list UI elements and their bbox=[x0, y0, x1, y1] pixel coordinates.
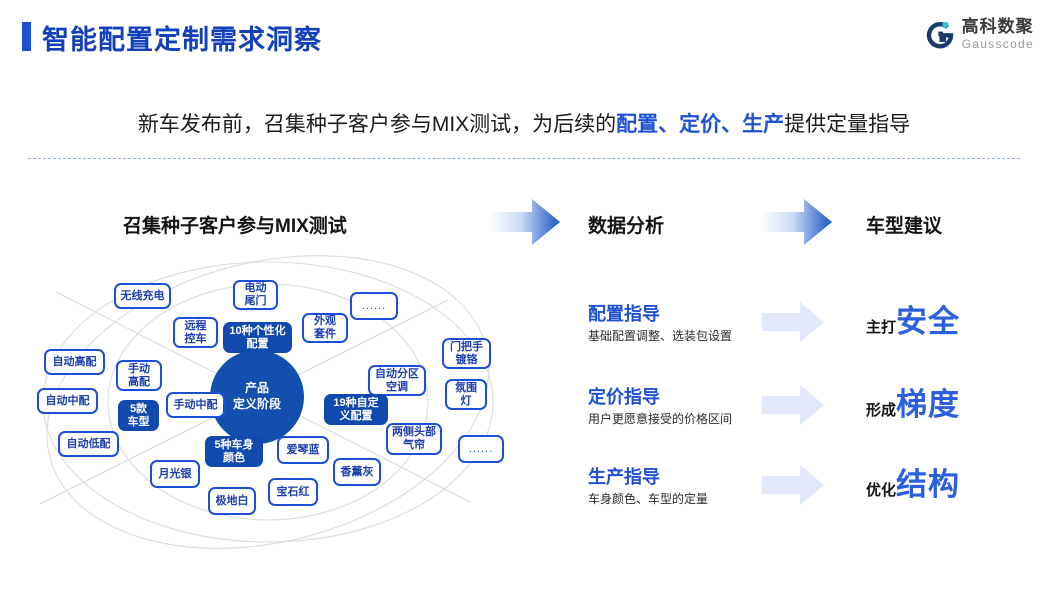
recommendation-prefix: 优化 bbox=[866, 479, 896, 500]
row-description: 用户更愿意接受的价格区间 bbox=[588, 410, 732, 427]
mindmap-node: 无线充电 bbox=[114, 283, 171, 309]
column-header-analysis: 数据分析 bbox=[588, 211, 664, 238]
center-node-line-2: 定义阶段 bbox=[233, 397, 281, 413]
mindmap-node: ...... bbox=[350, 292, 398, 320]
title-accent-bar bbox=[22, 22, 31, 51]
row-recommendation: 形成 梯度 bbox=[866, 379, 960, 424]
recommendation-keyword: 安全 bbox=[896, 296, 960, 341]
mindmap-node: 月光银 bbox=[150, 460, 200, 488]
logo-name-en: Gausscode bbox=[962, 38, 1034, 50]
mindmap-node: 5种车身颜色 bbox=[205, 436, 263, 467]
mindmap-node: 电动尾门 bbox=[233, 280, 278, 310]
flow-arrow-1-icon bbox=[488, 199, 560, 245]
recommendation-prefix: 形成 bbox=[866, 399, 896, 420]
mindmap-node: 爱琴蓝 bbox=[277, 436, 329, 464]
mindmap-node: 自动低配 bbox=[58, 431, 119, 457]
recommendation-prefix: 主打 bbox=[866, 316, 896, 337]
column-header-recommendation: 车型建议 bbox=[866, 211, 942, 238]
recommendation-keyword: 梯度 bbox=[896, 379, 960, 424]
mindmap-node: 外观套件 bbox=[302, 313, 348, 343]
mindmap-node: 5款车型 bbox=[118, 400, 159, 431]
subtitle-part-2: 提供定量指导 bbox=[784, 113, 910, 136]
row-arrow-2-icon bbox=[762, 385, 824, 425]
logo-text: 高科数聚 Gausscode bbox=[962, 18, 1034, 50]
row-recommendation: 主打 安全 bbox=[866, 296, 960, 341]
gausscode-g-logo-icon bbox=[925, 19, 955, 49]
row-description: 基础配置调整、选装包设置 bbox=[588, 327, 732, 344]
mindmap-node: 19种自定义配置 bbox=[324, 394, 388, 425]
page-title: 智能配置定制需求洞察 bbox=[42, 18, 322, 57]
subtitle-part-1: 新车发布前，召集种子客户参与MIX测试，为后续的 bbox=[138, 113, 616, 136]
column-header-collect: 召集种子客户参与MIX测试 bbox=[123, 211, 347, 238]
mindmap-node: ...... bbox=[458, 435, 504, 463]
row-arrow-1-icon bbox=[762, 302, 824, 342]
flow-arrow-2-icon bbox=[760, 199, 832, 245]
center-node-line-1: 产品 bbox=[245, 381, 269, 397]
recommendation-keyword: 结构 bbox=[896, 459, 960, 504]
mindmap-node: 手动高配 bbox=[116, 360, 162, 391]
mindmap-node: 自动分区空调 bbox=[368, 365, 426, 396]
subtitle: 新车发布前，召集种子客户参与MIX测试，为后续的配置、定价、生产提供定量指导 bbox=[0, 108, 1048, 138]
brand-logo: 高科数聚 Gausscode bbox=[925, 18, 1034, 50]
row-title: 生产指导 bbox=[588, 463, 660, 489]
mindmap-node: 宝石红 bbox=[268, 478, 318, 506]
mindmap-node: 两侧头部气帘 bbox=[386, 423, 442, 455]
logo-name-cn: 高科数聚 bbox=[962, 18, 1034, 35]
mindmap-node: 门把手镀铬 bbox=[442, 338, 491, 369]
row-recommendation: 优化 结构 bbox=[866, 459, 960, 504]
section-divider bbox=[28, 158, 1020, 159]
mindmap-node: 手动中配 bbox=[166, 392, 225, 418]
analysis-row-pricing: 定价指导 用户更愿意接受的价格区间 形成 梯度 bbox=[588, 383, 1028, 449]
mindmap-node: 极地白 bbox=[208, 487, 256, 515]
row-title: 配置指导 bbox=[588, 300, 660, 326]
subtitle-highlight: 配置、定价、生产 bbox=[616, 113, 784, 136]
row-arrow-3-icon bbox=[762, 465, 824, 505]
row-title: 定价指导 bbox=[588, 383, 660, 409]
analysis-row-production: 生产指导 车身颜色、车型的定量 优化 结构 bbox=[588, 463, 1028, 529]
mindmap-node: 自动中配 bbox=[37, 388, 98, 414]
analysis-row-configuration: 配置指导 基础配置调整、选装包设置 主打 安全 bbox=[588, 300, 1028, 366]
mindmap-node: 氛围灯 bbox=[445, 379, 487, 410]
mindmap-node: 远程控车 bbox=[173, 317, 218, 348]
row-description: 车身颜色、车型的定量 bbox=[588, 490, 708, 507]
mindmap-node: 香薰灰 bbox=[333, 458, 381, 486]
page-header: 智能配置定制需求洞察 高科数聚 Gausscode bbox=[0, 0, 1048, 80]
product-definition-mindmap: 产品 定义阶段 无线充电电动尾门......远程控车10种个性化配置外观套件门把… bbox=[18, 252, 518, 552]
mindmap-node: 10种个性化配置 bbox=[223, 322, 292, 353]
mindmap-node: 自动高配 bbox=[44, 349, 105, 375]
